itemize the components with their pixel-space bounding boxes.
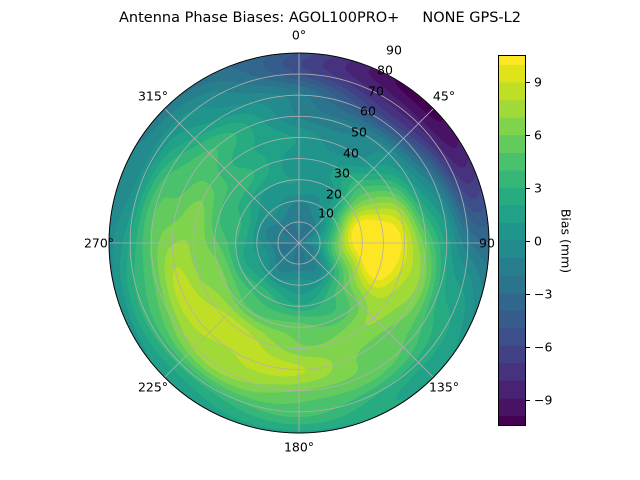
- radial-tick-label-10: 10: [318, 206, 334, 221]
- colorbar[interactable]: 9630−3−6−9: [498, 55, 526, 426]
- radial-tick-label-20: 20: [326, 187, 342, 202]
- colorbar-tick-mark: [526, 294, 530, 295]
- colorbar-tick-mark: [526, 135, 530, 136]
- colorbar-tick-label--9: −9: [534, 392, 552, 407]
- angular-tick-label-225: 225°: [138, 380, 168, 395]
- colorbar-tick-mark: [526, 241, 530, 242]
- colorbar-tick-mark: [526, 347, 530, 348]
- colorbar-gradient: [498, 55, 526, 426]
- colorbar-tick-label-6: 6: [534, 127, 542, 142]
- figure-canvas: Antenna Phase Biases: AGOL100PRO+ NONE G…: [0, 0, 640, 480]
- colorbar-tick-mark: [526, 400, 530, 401]
- angular-tick-label-0: 0°: [292, 28, 306, 43]
- radial-tick-label-70: 70: [368, 84, 384, 99]
- colorbar-tick-label--6: −6: [534, 339, 552, 354]
- colorbar-axis-label: Bias (mm): [559, 209, 574, 273]
- chart-title: Antenna Phase Biases: AGOL100PRO+ NONE G…: [0, 8, 640, 28]
- colorbar-tick-mark: [526, 188, 530, 189]
- colorbar-tick-label-0: 0: [534, 233, 542, 248]
- radial-tick-label-60: 60: [360, 104, 376, 119]
- polar-plot-axes[interactable]: 0°45°90135°180°225°270°315° 102030405060…: [108, 46, 490, 442]
- colorbar-tick-label--3: −3: [534, 286, 552, 301]
- angular-tick-label-180: 180°: [284, 440, 314, 455]
- radial-tick-label-50: 50: [351, 125, 367, 140]
- radial-tick-label-90: 90: [386, 43, 402, 58]
- colorbar-tick-mark: [526, 82, 530, 83]
- radial-tick-label-40: 40: [343, 146, 359, 161]
- colorbar-tick-label-9: 9: [534, 74, 542, 89]
- radial-tick-label-30: 30: [334, 166, 350, 181]
- angular-tick-label-315: 315°: [138, 89, 168, 104]
- angular-tick-label-90: 90: [479, 236, 495, 251]
- angular-tick-label-135: 135°: [429, 380, 459, 395]
- angular-tick-label-45: 45°: [433, 89, 455, 104]
- radial-tick-label-80: 80: [377, 63, 393, 78]
- colorbar-tick-label-3: 3: [534, 180, 542, 195]
- angular-tick-label-270: 270°: [84, 236, 114, 251]
